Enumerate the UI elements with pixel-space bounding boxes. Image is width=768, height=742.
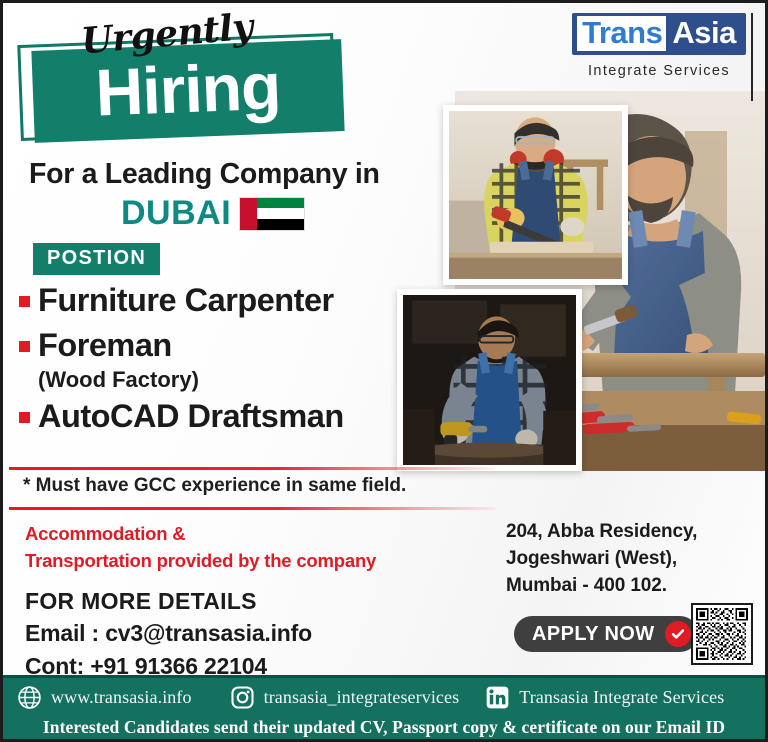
- address-line-3: Mumbai - 400 102.: [506, 573, 697, 600]
- footer-website[interactable]: www.transasia.info: [17, 685, 192, 710]
- contact-email[interactable]: Email : cv3@transasia.info: [25, 617, 312, 650]
- flag-stripes: [257, 198, 304, 230]
- carpenter-drilling-photo: [397, 289, 582, 471]
- qr-code[interactable]: [691, 603, 753, 665]
- contact-title: FOR MORE DETAILS: [25, 586, 312, 617]
- flag-red-band: [240, 198, 257, 230]
- logo-tagline: Integrate Services: [565, 63, 753, 79]
- requirement-note: * Must have GCC experience in same field…: [23, 475, 406, 497]
- footer-website-text: www.transasia.info: [51, 687, 192, 708]
- footer-bar: www.transasia.info transasia_integratese…: [3, 675, 765, 739]
- position-badge: POSTION: [33, 243, 160, 275]
- job-advertisement: TransAsia Integrate Services Hiring Urge…: [0, 0, 768, 742]
- footer-notice: Interested Candidates send their updated…: [3, 716, 765, 742]
- divider-rule-bottom: [9, 507, 495, 510]
- photo-collage: [395, 91, 765, 481]
- position-sublabel: (Wood Factory): [38, 367, 419, 393]
- hiring-text: Hiring: [31, 39, 344, 143]
- footer-social-row: www.transasia.info transasia_integratese…: [3, 678, 765, 716]
- footer-instagram[interactable]: transasia_integrateservices: [230, 685, 460, 710]
- benefits-text: Accommodation & Transportation provided …: [25, 521, 376, 575]
- position-list: Furniture Carpenter Foreman (Wood Factor…: [19, 279, 419, 440]
- contact-block: FOR MORE DETAILS Email : cv3@transasia.i…: [25, 586, 312, 682]
- apply-now-button[interactable]: APPLY NOW: [514, 616, 698, 652]
- list-item: AutoCAD Draftsman: [19, 395, 419, 438]
- uae-flag-icon: [239, 197, 305, 231]
- list-item: Foreman: [19, 324, 419, 367]
- apply-now-label: APPLY NOW: [532, 623, 655, 646]
- carpenter-sawing-photo: [443, 105, 628, 285]
- position-label: Foreman: [38, 324, 172, 367]
- location-text: DUBAI: [121, 194, 231, 233]
- globe-icon: [17, 685, 42, 710]
- footer-linkedin-text: Transasia Integrate Services: [519, 687, 724, 708]
- bullet-square-icon: [19, 412, 30, 423]
- list-item: Furniture Carpenter: [19, 279, 419, 322]
- address-line-1: 204, Abba Residency,: [506, 519, 697, 546]
- footer-instagram-text: transasia_integrateservices: [264, 687, 460, 708]
- headline-text: For a Leading Company in: [29, 158, 380, 191]
- benefits-line-1: Accommodation &: [25, 521, 376, 548]
- instagram-icon: [230, 685, 255, 710]
- divider-rule-top: [9, 467, 495, 470]
- logo-mark: TransAsia: [572, 13, 746, 55]
- benefits-line-2: Transportation provided by the company: [25, 548, 376, 575]
- office-address: 204, Abba Residency, Jogeshwari (West), …: [506, 519, 697, 600]
- bullet-square-icon: [19, 341, 30, 352]
- logo-text-trans: Trans: [577, 16, 666, 51]
- linkedin-icon: [485, 685, 510, 710]
- flag-green-stripe: [257, 198, 304, 209]
- location-row: DUBAI: [121, 194, 305, 233]
- footer-linkedin[interactable]: Transasia Integrate Services: [485, 685, 724, 710]
- bullet-square-icon: [19, 296, 30, 307]
- position-label: Furniture Carpenter: [38, 279, 334, 322]
- logo-text-asia: Asia: [666, 16, 740, 51]
- flag-white-stripe: [257, 208, 304, 219]
- company-logo: TransAsia Integrate Services: [565, 13, 753, 79]
- logo-divider: [751, 13, 753, 101]
- address-line-2: Jogeshwari (West),: [506, 546, 697, 573]
- hiring-banner: Hiring Urgently: [15, 11, 355, 141]
- check-icon: [665, 621, 691, 647]
- flag-black-stripe: [257, 219, 304, 230]
- position-label: AutoCAD Draftsman: [38, 395, 344, 438]
